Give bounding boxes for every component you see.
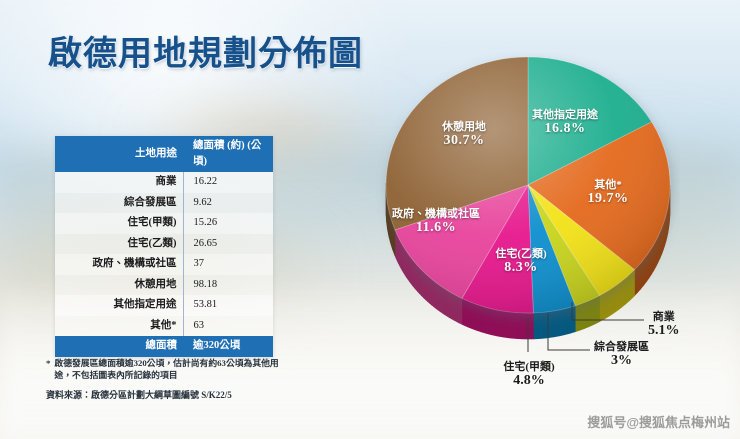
pie-slice-side bbox=[531, 313, 533, 339]
watermark: 搜狐号@搜狐焦点梅州站 bbox=[587, 412, 730, 431]
source-line: 資料來源：啟德分區計劃大綱草圖編號 S/K22/5 bbox=[46, 390, 282, 402]
table-header-row: 土地用途 總面積 (約) (公頃) bbox=[55, 136, 273, 172]
pie-slice-side bbox=[495, 309, 497, 335]
table-row: 住宅(乙類)26.65 bbox=[55, 234, 273, 255]
callout-cda: 綜合發展區 3% bbox=[594, 340, 649, 368]
table-row: 商業16.22 bbox=[55, 172, 273, 193]
pie-slice-side bbox=[497, 310, 499, 336]
pie-slice-side bbox=[505, 311, 507, 337]
pie-slice-side bbox=[517, 313, 519, 339]
pie-slice-side bbox=[440, 286, 442, 314]
table-cell-area: 37 bbox=[183, 254, 273, 275]
callout-residential-a: 住宅(甲類) 4.8% bbox=[484, 360, 574, 388]
footnote-asterisk-mark: * bbox=[46, 358, 50, 381]
pie-slice-side bbox=[438, 284, 440, 312]
footnote-asterisk-text: 啟德發展區總面積逾320公頃，估計尚有約63公頃為其他用途，不包括圖表內所記錄的… bbox=[54, 358, 282, 381]
pie-slice-side bbox=[515, 312, 517, 338]
pie-slice-side bbox=[459, 297, 462, 324]
table-total-row: 總面積 逾320公頃 bbox=[55, 336, 273, 357]
table-cell-area: 16.22 bbox=[183, 172, 273, 193]
table-cell-area: 15.26 bbox=[183, 213, 273, 234]
pie-slice-side bbox=[521, 313, 523, 339]
table-cell-area: 63 bbox=[183, 316, 273, 337]
pie-slice-side bbox=[529, 313, 531, 339]
table-row: 住宅(甲類)15.26 bbox=[55, 213, 273, 234]
pie-slice-side bbox=[507, 312, 509, 338]
table-cell-land-use: 休憩用地 bbox=[55, 275, 183, 296]
table-footer: 總面積 逾320公頃 bbox=[55, 336, 273, 357]
pie-slice-side bbox=[649, 248, 651, 278]
pie-chart-svg bbox=[376, 52, 680, 352]
infographic-canvas: 啟德用地規劃分佈圖 土地用途 總面積 (約) (公頃) 商業16.22綜合發展區… bbox=[0, 0, 740, 439]
table-cell-area: 98.18 bbox=[183, 275, 273, 296]
page-title: 啟德用地規劃分佈圖 bbox=[48, 26, 363, 75]
table-header: 土地用途 總面積 (約) (公頃) bbox=[55, 136, 273, 172]
table-header-area: 總面積 (約) (公頃) bbox=[183, 136, 273, 172]
pie-slice-side bbox=[454, 294, 456, 321]
pie-slice-side bbox=[646, 252, 649, 282]
pie-slice-side bbox=[638, 263, 641, 292]
callout-residential-a-pct: 4.8% bbox=[484, 374, 574, 388]
pie-slice-side bbox=[443, 287, 445, 315]
land-use-table: 土地用途 總面積 (約) (公頃) 商業16.22綜合發展區9.62住宅(甲類)… bbox=[55, 136, 273, 357]
pie-slice-side bbox=[654, 240, 656, 270]
pie-slice-side bbox=[509, 312, 511, 338]
table-cell-area: 53.81 bbox=[183, 295, 273, 316]
table-cell-land-use: 其他* bbox=[55, 316, 183, 337]
callout-cda-name: 綜合發展區 bbox=[594, 340, 649, 354]
pie-slice-side bbox=[641, 259, 644, 289]
table-cell-land-use: 政府、機構或社區 bbox=[55, 254, 183, 275]
table-cell-land-use: 商業 bbox=[55, 172, 183, 193]
pie-slice-side bbox=[651, 244, 653, 274]
pie-slice-side bbox=[436, 282, 438, 310]
table-cell-land-use: 其他指定用途 bbox=[55, 295, 183, 316]
pie-slice-side bbox=[503, 311, 505, 337]
callout-commercial-name: 商業 bbox=[648, 310, 680, 324]
table-cell-land-use: 住宅(乙類) bbox=[55, 234, 183, 255]
pie-slice-side bbox=[447, 290, 449, 317]
table-body: 商業16.22綜合發展區9.62住宅(甲類)15.26住宅(乙類)26.65政府… bbox=[55, 172, 273, 336]
pie-slice-side bbox=[499, 310, 501, 336]
table-row: 其他*63 bbox=[55, 316, 273, 337]
table-row: 其他指定用途53.81 bbox=[55, 295, 273, 316]
pie-slice-side bbox=[450, 292, 452, 319]
callout-cda-pct: 3% bbox=[594, 354, 649, 368]
pie-gloss-overlay bbox=[386, 57, 670, 313]
table-total-value: 逾320公頃 bbox=[183, 336, 273, 357]
pie-slice-side bbox=[432, 279, 434, 307]
pie-slice-side bbox=[527, 313, 529, 339]
pie-slice-side bbox=[523, 313, 525, 339]
pie-slice-side bbox=[425, 273, 427, 301]
callout-commercial-pct: 5.1% bbox=[648, 324, 680, 338]
pie-chart: 休憩用地 30.7% 其他指定用途 16.8% 其他* 19.7% 住宅(乙類)… bbox=[376, 52, 680, 352]
pie-slice-side bbox=[429, 277, 431, 305]
callout-residential-a-name: 住宅(甲類) bbox=[484, 360, 574, 374]
pie-slice-side bbox=[445, 289, 447, 316]
pie-slice-side bbox=[635, 266, 638, 295]
pie-slice-side bbox=[427, 275, 429, 303]
table-cell-land-use: 住宅(甲類) bbox=[55, 213, 183, 234]
table-cell-area: 26.65 bbox=[183, 234, 273, 255]
table-row: 政府、機構或社區37 bbox=[55, 254, 273, 275]
table-header-land-use: 土地用途 bbox=[55, 136, 183, 172]
table-cell-land-use: 綜合發展區 bbox=[55, 193, 183, 214]
table-total-label: 總面積 bbox=[55, 336, 183, 357]
watermark-text: 搜狐号@搜狐焦点梅州站 bbox=[587, 412, 730, 431]
footnote-asterisk: * 啟德發展區總面積逾320公頃，估計尚有約63公頃為其他用途，不包括圖表內所記… bbox=[46, 358, 282, 381]
pie-slice-side bbox=[511, 312, 513, 338]
pie-slice-side bbox=[457, 296, 460, 323]
pie-slice-side bbox=[452, 293, 454, 320]
table-cell-area: 9.62 bbox=[183, 193, 273, 214]
pie-slice-side bbox=[644, 256, 647, 286]
footnote-block: * 啟德發展區總面積逾320公頃，估計尚有約63公頃為其他用途，不包括圖表內所記… bbox=[46, 358, 282, 402]
pie-slice-side bbox=[513, 312, 515, 338]
pie-slice-side bbox=[525, 313, 527, 339]
pie-slice-side bbox=[501, 311, 503, 337]
pie-slice-side bbox=[434, 281, 436, 309]
table-row: 綜合發展區9.62 bbox=[55, 193, 273, 214]
table-row: 休憩用地98.18 bbox=[55, 275, 273, 296]
pie-slice-side bbox=[519, 313, 521, 339]
callout-commercial: 商業 5.1% bbox=[648, 310, 680, 338]
